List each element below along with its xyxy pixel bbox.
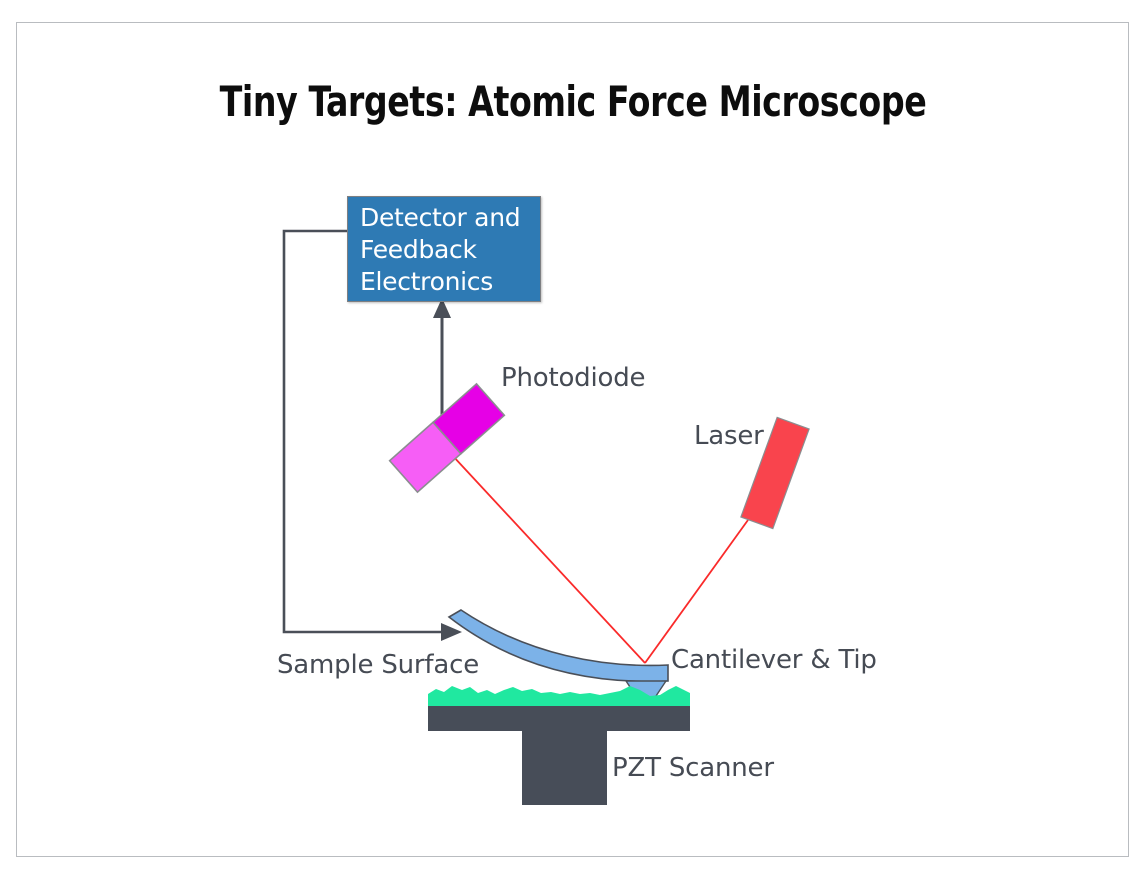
photodiode: [390, 384, 505, 492]
sample-surface-label: Sample Surface: [277, 650, 479, 680]
detector-box-label: Detector and Feedback Electronics: [360, 202, 540, 298]
slide-canvas: Tiny Targets: Atomic Force Microscope: [0, 0, 1146, 883]
photodiode-label: Photodiode: [501, 363, 645, 393]
detector-feedback-electronics-box[interactable]: Detector and Feedback Electronics: [347, 196, 541, 302]
laser-label: Laser: [694, 421, 764, 451]
cantilever-tip-label: Cantilever & Tip: [671, 645, 877, 675]
photodiode-signal-arrow: [433, 298, 451, 427]
afm-diagram: [0, 0, 1146, 883]
pzt-scanner-label: PZT Scanner: [612, 753, 774, 783]
